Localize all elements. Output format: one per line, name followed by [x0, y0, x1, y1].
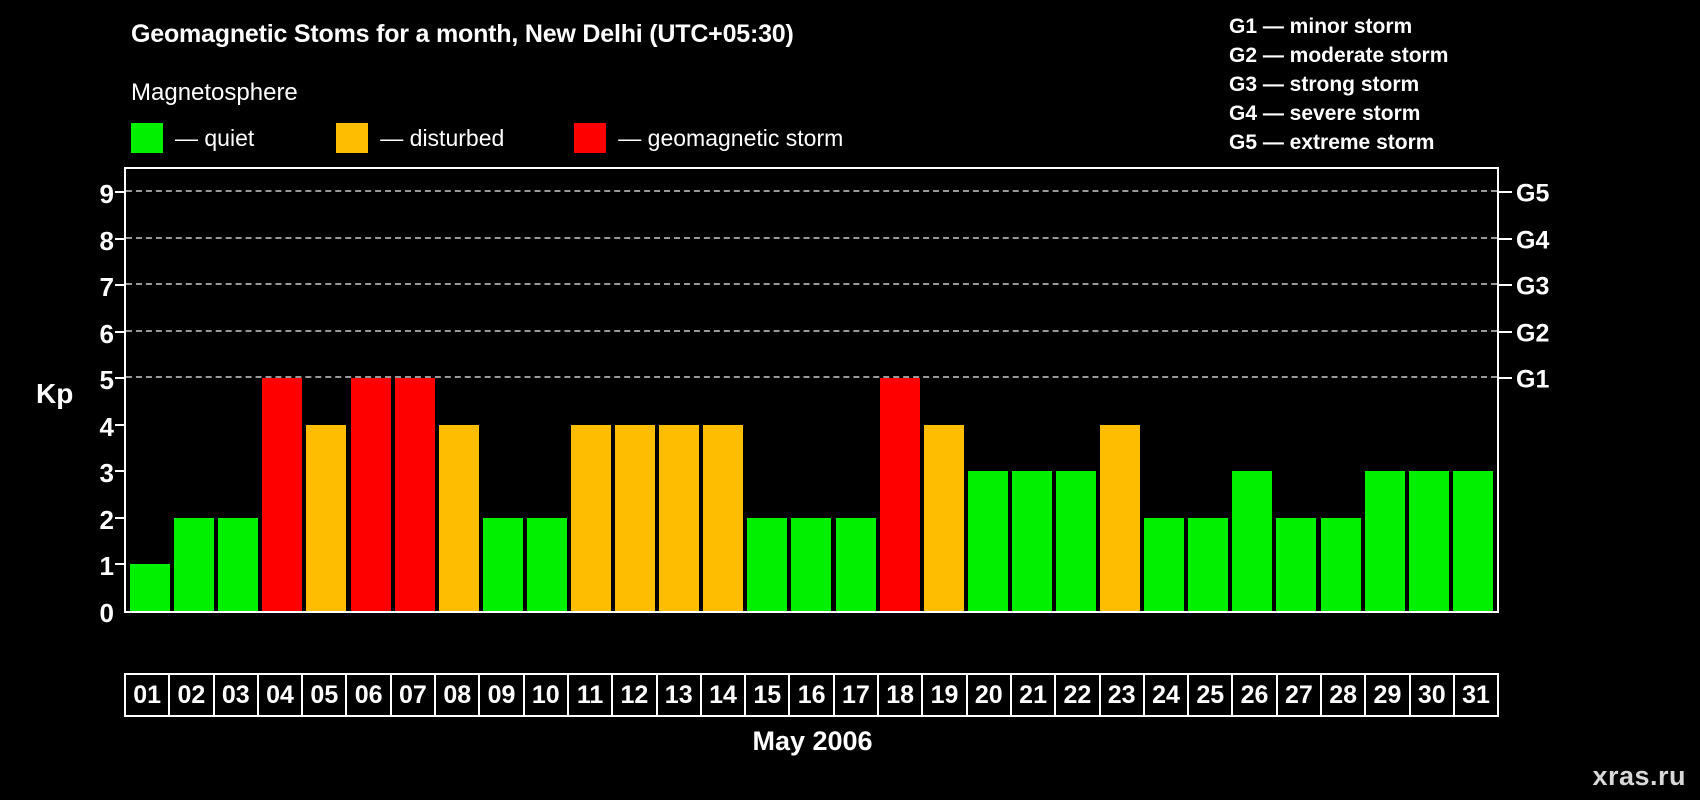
day-label-16[interactable]: 16: [788, 673, 834, 717]
bar-slot: [922, 169, 966, 611]
day-label-06[interactable]: 06: [345, 673, 391, 717]
g-axis-tick-G5: [1499, 191, 1512, 193]
bar-slot: [745, 169, 789, 611]
y-axis-title: Kp: [36, 378, 73, 410]
bar-day-30[interactable]: [1409, 471, 1449, 611]
legend-heading: Magnetosphere: [131, 79, 298, 107]
bar-slot: [525, 169, 569, 611]
day-label-11[interactable]: 11: [567, 673, 613, 717]
legend-swatch-quiet: [131, 123, 163, 153]
bar-day-19[interactable]: [924, 425, 964, 611]
g-axis-tick-G3: [1499, 284, 1512, 286]
bar-day-25[interactable]: [1188, 518, 1228, 611]
g-axis-label-G4: G4: [1516, 228, 1549, 253]
bar-day-26[interactable]: [1232, 471, 1272, 611]
day-label-19[interactable]: 19: [921, 673, 967, 717]
bar-day-21[interactable]: [1012, 471, 1052, 611]
day-label-27[interactable]: 27: [1276, 673, 1322, 717]
day-label-15[interactable]: 15: [744, 673, 790, 717]
g-axis-label-G5: G5: [1516, 182, 1549, 207]
bar-day-05[interactable]: [306, 425, 346, 611]
bar-day-04[interactable]: [262, 378, 302, 611]
legend-item-disturbed: — disturbed: [336, 123, 504, 153]
x-axis-day-labels: 0102030405060708091011121314151617181920…: [124, 673, 1499, 717]
bar-day-24[interactable]: [1144, 518, 1184, 611]
bar-day-31[interactable]: [1453, 471, 1493, 611]
bar-day-06[interactable]: [351, 378, 391, 611]
day-label-18[interactable]: 18: [877, 673, 923, 717]
legend-label-storm: — geomagnetic storm: [618, 125, 843, 152]
g-scale-row-g5: G5 — extreme storm: [1229, 128, 1448, 157]
bar-day-22[interactable]: [1056, 471, 1096, 611]
bar-slot: [260, 169, 304, 611]
bar-series: [128, 169, 1495, 611]
bar-day-01[interactable]: [130, 564, 170, 611]
bar-slot: [1451, 169, 1495, 611]
day-label-22[interactable]: 22: [1054, 673, 1100, 717]
bar-slot: [437, 169, 481, 611]
legend-label-disturbed: — disturbed: [380, 125, 504, 152]
day-label-03[interactable]: 03: [213, 673, 259, 717]
legend-item-quiet: — quiet: [131, 123, 254, 153]
y-tick-label-7: 7: [80, 274, 114, 300]
bar-slot: [1319, 169, 1363, 611]
bar-slot: [1142, 169, 1186, 611]
day-label-14[interactable]: 14: [700, 673, 746, 717]
bar-slot: [701, 169, 745, 611]
day-label-26[interactable]: 26: [1231, 673, 1277, 717]
day-label-31[interactable]: 31: [1453, 673, 1499, 717]
bar-slot: [1274, 169, 1318, 611]
plot-area: [124, 167, 1499, 613]
day-label-25[interactable]: 25: [1187, 673, 1233, 717]
bar-day-16[interactable]: [791, 518, 831, 611]
bar-day-18[interactable]: [880, 378, 920, 611]
y-tick-label-1: 1: [80, 553, 114, 579]
day-label-29[interactable]: 29: [1364, 673, 1410, 717]
legend-swatch-disturbed: [336, 123, 368, 153]
legend-label-quiet: — quiet: [175, 125, 254, 152]
g-axis-label-G1: G1: [1516, 368, 1549, 393]
day-label-07[interactable]: 07: [390, 673, 436, 717]
bar-day-08[interactable]: [439, 425, 479, 611]
bar-slot: [216, 169, 260, 611]
bar-day-02[interactable]: [174, 518, 214, 611]
y-tick-label-8: 8: [80, 228, 114, 254]
bar-slot: [966, 169, 1010, 611]
g-axis-tick-G4: [1499, 238, 1512, 240]
day-label-10[interactable]: 10: [523, 673, 569, 717]
day-label-09[interactable]: 09: [478, 673, 524, 717]
bar-slot: [348, 169, 392, 611]
bar-day-27[interactable]: [1276, 518, 1316, 611]
g-axis-label-G2: G2: [1516, 321, 1549, 346]
bar-slot: [878, 169, 922, 611]
bar-slot: [569, 169, 613, 611]
y-tick-label-2: 2: [80, 507, 114, 533]
bar-slot: [789, 169, 833, 611]
bar-day-09[interactable]: [483, 518, 523, 611]
g-scale-row-g2: G2 — moderate storm: [1229, 41, 1448, 70]
bar-day-14[interactable]: [703, 425, 743, 611]
y-tick-label-3: 3: [80, 460, 114, 486]
bar-slot: [613, 169, 657, 611]
day-label-30[interactable]: 30: [1409, 673, 1455, 717]
watermark: xras.ru: [1592, 761, 1686, 792]
legend-swatch-storm: [574, 123, 606, 153]
g-axis-tick-G1: [1499, 377, 1512, 379]
bar-slot: [393, 169, 437, 611]
g-scale-row-g1: G1 — minor storm: [1229, 12, 1448, 41]
bar-slot: [1010, 169, 1054, 611]
day-label-24[interactable]: 24: [1143, 673, 1189, 717]
bar-day-28[interactable]: [1321, 518, 1361, 611]
day-label-12[interactable]: 12: [611, 673, 657, 717]
bar-day-07[interactable]: [395, 378, 435, 611]
legend-item-storm: — geomagnetic storm: [574, 123, 843, 153]
g-axis-ticks: [1499, 167, 1513, 613]
bar-slot: [172, 169, 216, 611]
g-scale-row-g4: G4 — severe storm: [1229, 99, 1448, 128]
day-label-21[interactable]: 21: [1010, 673, 1056, 717]
day-label-28[interactable]: 28: [1320, 673, 1366, 717]
y-tick-label-9: 9: [80, 181, 114, 207]
y-tick-label-0: 0: [80, 600, 114, 626]
g-scale-legend: G1 — minor storm G2 — moderate storm G3 …: [1229, 12, 1448, 157]
g-axis-tick-labels: G1G2G3G4G5: [1516, 167, 1576, 613]
y-tick-label-4: 4: [80, 414, 114, 440]
x-axis-title: May 2006: [0, 726, 1625, 757]
g-scale-row-g3: G3 — strong storm: [1229, 70, 1448, 99]
day-label-08[interactable]: 08: [434, 673, 480, 717]
bar-slot: [304, 169, 348, 611]
bar-slot: [657, 169, 701, 611]
y-tick-label-6: 6: [80, 321, 114, 347]
bar-day-17[interactable]: [836, 518, 876, 611]
bar-day-20[interactable]: [968, 471, 1008, 611]
bar-day-13[interactable]: [659, 425, 699, 611]
bar-day-23[interactable]: [1100, 425, 1140, 611]
page-title: Geomagnetic Stoms for a month, New Delhi…: [131, 20, 794, 49]
y-axis-tick-labels: 0123456789: [80, 167, 114, 613]
bar-slot: [1054, 169, 1098, 611]
bar-day-15[interactable]: [747, 518, 787, 611]
bar-slot: [1407, 169, 1451, 611]
g-axis-label-G3: G3: [1516, 275, 1549, 300]
bar-day-03[interactable]: [218, 518, 258, 611]
y-tick-label-5: 5: [80, 367, 114, 393]
day-label-17[interactable]: 17: [833, 673, 879, 717]
day-label-20[interactable]: 20: [966, 673, 1012, 717]
bar-slot: [1363, 169, 1407, 611]
bar-slot: [1186, 169, 1230, 611]
day-label-13[interactable]: 13: [656, 673, 702, 717]
bar-day-12[interactable]: [615, 425, 655, 611]
day-label-05[interactable]: 05: [301, 673, 347, 717]
bar-day-29[interactable]: [1365, 471, 1405, 611]
bar-day-11[interactable]: [571, 425, 611, 611]
bar-slot: [834, 169, 878, 611]
bar-day-10[interactable]: [527, 518, 567, 611]
day-label-01[interactable]: 01: [124, 673, 170, 717]
bar-slot: [128, 169, 172, 611]
day-label-02[interactable]: 02: [168, 673, 214, 717]
day-label-23[interactable]: 23: [1099, 673, 1145, 717]
legend: — quiet — disturbed — geomagnetic storm: [131, 123, 843, 153]
bar-slot: [1230, 169, 1274, 611]
day-label-04[interactable]: 04: [257, 673, 303, 717]
bar-slot: [481, 169, 525, 611]
g-axis-tick-G2: [1499, 331, 1512, 333]
bar-slot: [1098, 169, 1142, 611]
